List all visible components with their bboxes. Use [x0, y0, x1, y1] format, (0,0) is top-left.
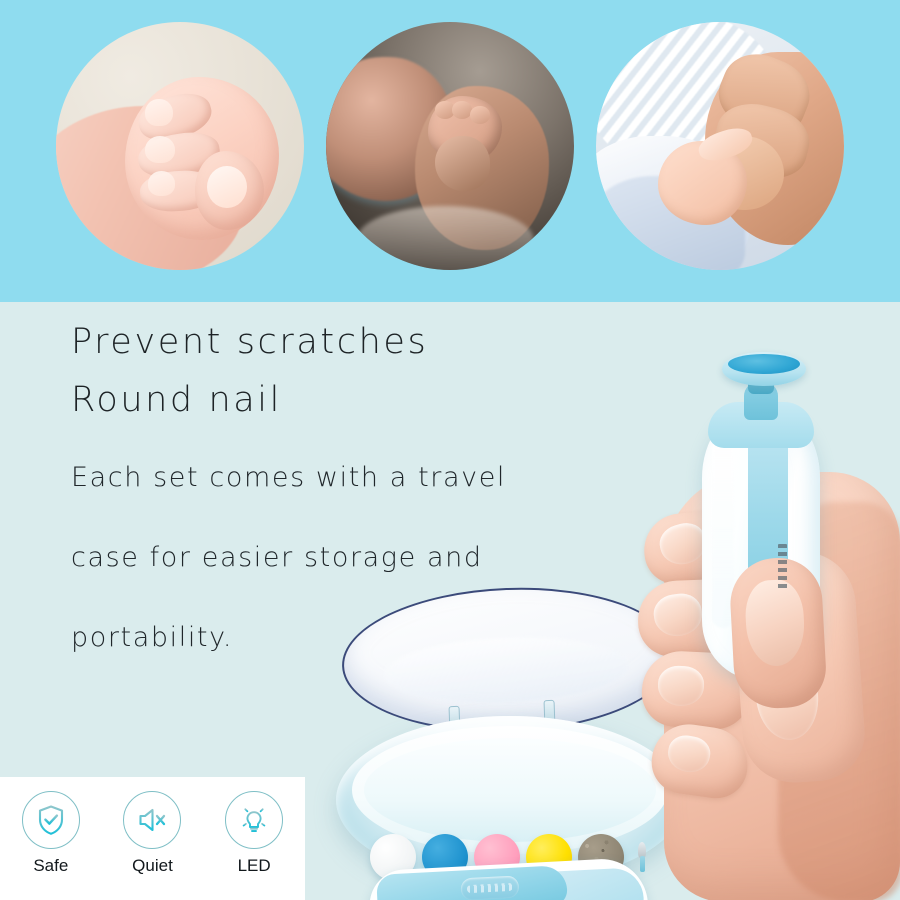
headline-prevent-scratches: Prevent scratches [71, 322, 428, 362]
trimmer-attached-head-blue-disc [728, 354, 800, 374]
shield-check-icon [34, 803, 68, 837]
baby-nail-3 [148, 171, 175, 196]
photo-adult-hand-holding-baby-hand [596, 22, 844, 270]
badge-label-led: LED [208, 856, 300, 876]
case-base-tray [364, 738, 656, 842]
lid-gloss-highlight [383, 633, 629, 707]
badge-led: LED [208, 791, 300, 876]
headline-round-nail: Round nail [71, 380, 282, 420]
speaker-mute-icon [135, 803, 169, 837]
badge-ring [22, 791, 80, 849]
photo-baby-hand-gripping-adult-finger [56, 22, 304, 270]
feature-badges-panel: Safe Quiet [0, 777, 305, 900]
photo-2-content [326, 22, 574, 270]
baby-nail-2 [145, 136, 175, 163]
body-line-2: case for easier storage and [71, 542, 483, 574]
photo-gallery-band [0, 0, 900, 302]
body-line-1: Each set comes with a travel [71, 462, 506, 494]
badge-label-safe: Safe [5, 856, 97, 876]
handheld-trimmer-in-hand [628, 352, 900, 900]
trimmer-brand-mark [778, 544, 787, 590]
badge-ring [123, 791, 181, 849]
badge-label-quiet: Quiet [106, 856, 198, 876]
product-marketing-image: Prevent scratches Round nail Each set co… [0, 0, 900, 900]
body-line-3: portability. [71, 622, 233, 654]
badge-safe: Safe [5, 791, 97, 876]
adult-thumb-shape [435, 136, 490, 191]
badge-quiet: Quiet [106, 791, 198, 876]
badge-ring [225, 791, 283, 849]
electric-nail-trimmer [690, 352, 840, 682]
blanket-shape [356, 206, 535, 270]
photo-3-content [596, 22, 844, 270]
photo-newborn-held-in-adult-hands [326, 22, 574, 270]
photo-1-content [56, 22, 304, 270]
baby-knuckle-3 [470, 106, 490, 123]
lightbulb-icon [237, 803, 271, 837]
baby-nail-1 [145, 99, 172, 126]
baby-thumb-nail [207, 166, 247, 208]
